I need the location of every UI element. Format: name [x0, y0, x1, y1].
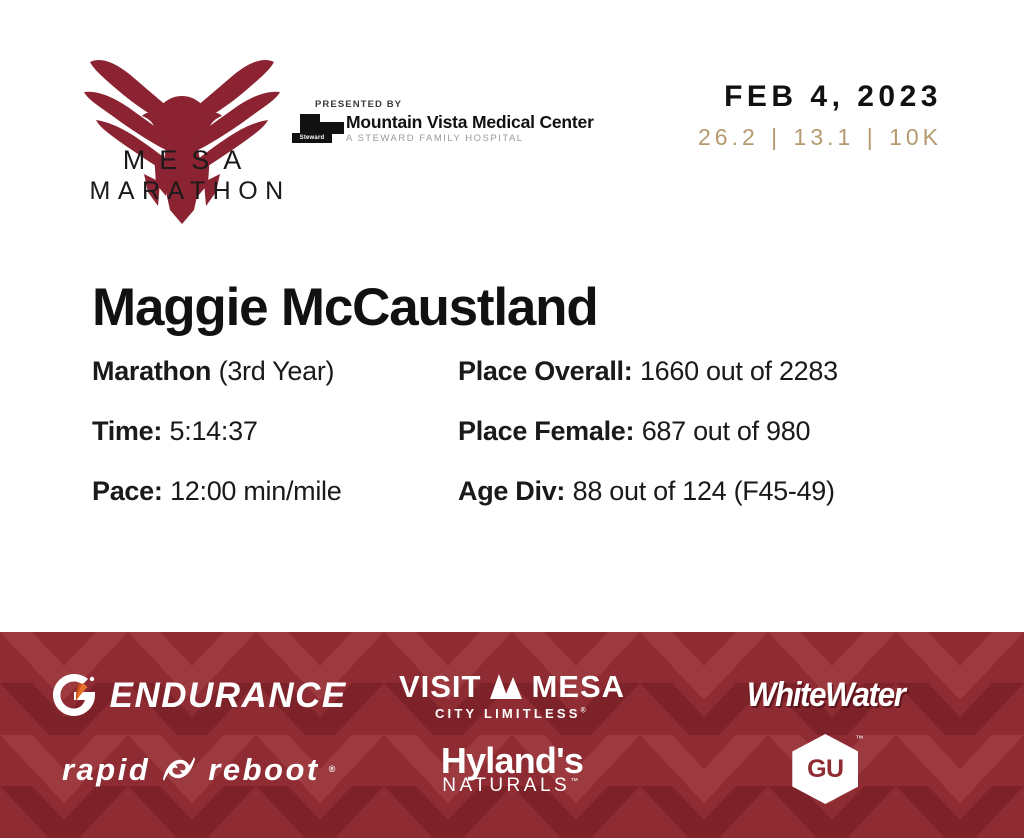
result-value: 12:00 min/mile	[170, 476, 341, 506]
logo-text-mesa: MESA	[82, 145, 282, 176]
hospital-name: Mountain Vista Medical Center	[346, 113, 594, 131]
distance-marathon: 26.2	[698, 124, 759, 150]
hylands-tagline: NATURALS™	[441, 776, 583, 795]
presenting-sponsor: PRESENTED BY Steward Mountain Vista Medi…	[292, 99, 572, 144]
distance-half: 13.1	[794, 124, 855, 150]
hylands-label: Hyland's	[441, 743, 583, 779]
steward-wordmark: Steward	[292, 133, 332, 143]
hospital-tagline: A STEWARD FAMILY HOSPITAL	[346, 133, 594, 144]
result-age-division: Age Div: 88 out of 124 (F45-49)	[458, 478, 835, 505]
whitewater-label: WhiteWater	[746, 678, 904, 712]
result-label: Place Female:	[458, 416, 634, 446]
sponsor-gu: GU ™	[669, 740, 982, 798]
rapid-reboot-swirl-icon	[159, 753, 199, 785]
reboot-label: reboot	[208, 754, 319, 785]
gu-hexagon-icon: GU ™	[792, 734, 858, 804]
runner-name: Maggie McCaustland	[92, 280, 1024, 336]
rapid-label: rapid	[62, 754, 150, 785]
sponsor-whitewater: WhiteWater	[669, 664, 982, 726]
certificate-header: MESA MARATHON PRESENTED BY Steward Mount…	[0, 0, 1024, 232]
presented-by-label: PRESENTED BY	[315, 99, 572, 110]
mesa-marathon-logo: MESA MARATHON	[82, 34, 282, 224]
result-value: (3rd Year)	[219, 356, 335, 386]
logo-text-marathon: MARATHON	[82, 177, 282, 206]
event-distances: 26.2 | 13.1 | 10K	[698, 126, 942, 149]
result-place-overall: Place Overall: 1660 out of 2283	[458, 358, 838, 385]
sponsor-row-2: rapid reboot® Hyland's NATURALS™	[0, 740, 1024, 798]
sponsor-row-1: ENDURANCE VISIT MESA CITY LIMITLESS®	[0, 664, 1024, 726]
sponsor-footer: ENDURANCE VISIT MESA CITY LIMITLESS®	[0, 632, 1024, 838]
result-label: Place Overall:	[458, 356, 632, 386]
result-race-type: Marathon (3rd Year)	[92, 358, 334, 385]
result-label: Marathon	[92, 356, 211, 386]
gatorade-g-icon	[51, 672, 97, 718]
distance-separator-2: |	[865, 124, 879, 150]
visit-label: VISIT	[399, 671, 482, 702]
mesa-label: MESA	[531, 671, 625, 702]
result-label: Pace:	[92, 476, 163, 506]
result-pace: Pace: 12:00 min/mile	[92, 478, 341, 505]
result-value: 5:14:37	[170, 416, 258, 446]
result-value: 687 out of 980	[642, 416, 810, 446]
distance-10k: 10K	[889, 124, 942, 150]
result-time: Time: 5:14:37	[92, 418, 258, 445]
results-section: Maggie McCaustland Marathon (3rd Year) T…	[0, 280, 1024, 538]
gatorade-endurance-label: ENDURANCE	[110, 678, 347, 713]
event-date-block: FEB 4, 2023 26.2 | 13.1 | 10K	[698, 82, 942, 149]
sponsor-gatorade-endurance: ENDURANCE	[42, 664, 355, 726]
result-value: 1660 out of 2283	[640, 356, 838, 386]
sponsor-visit-mesa: VISIT MESA CITY LIMITLESS®	[355, 664, 668, 726]
steward-logo-icon: Steward	[292, 114, 344, 144]
result-place-female: Place Female: 687 out of 980	[458, 418, 810, 445]
distance-separator-1: |	[769, 124, 783, 150]
sponsor-hylands: Hyland's NATURALS™	[355, 740, 668, 798]
gu-label: GU	[807, 755, 844, 784]
results-grid: Marathon (3rd Year) Time: 5:14:37 Pace: …	[0, 358, 1024, 538]
race-result-certificate: MESA MARATHON PRESENTED BY Steward Mount…	[0, 0, 1024, 838]
result-label: Time:	[92, 416, 162, 446]
result-label: Age Div:	[458, 476, 565, 506]
sponsor-rapid-reboot: rapid reboot®	[42, 740, 355, 798]
event-date: FEB 4, 2023	[698, 82, 942, 112]
gu-trademark: ™	[855, 734, 863, 743]
visit-mesa-tagline: CITY LIMITLESS®	[399, 707, 625, 720]
mountain-peaks-icon	[488, 672, 524, 700]
result-value: 88 out of 124 (F45-49)	[573, 476, 835, 506]
